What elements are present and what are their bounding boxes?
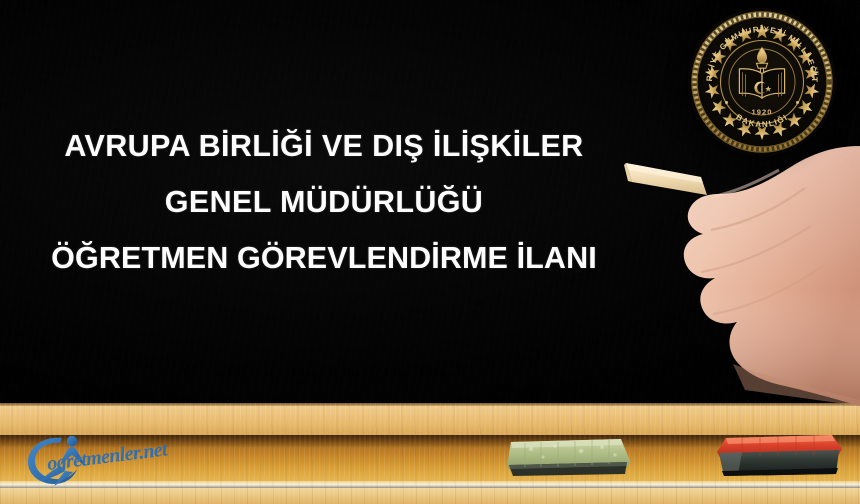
ledge-top-edge (0, 403, 860, 406)
ledge-bottom-face (0, 488, 860, 504)
headline-line-2: GENEL MÜDÜRLÜĞÜ (0, 174, 648, 230)
chalk-eraser-red (712, 430, 846, 480)
meb-seal-logo: TÜRKİYE CUMHURİYETİ MİLLİ EĞİTİM BAKANLI… (686, 6, 838, 158)
headline-line-3: ÖĞRETMEN GÖREVLENDİRME İLANI (0, 230, 648, 286)
seal-year: 1920 (752, 107, 773, 116)
headline-line-1: AVRUPA BİRLİĞİ VE DIŞ İLİŞKİLER (0, 118, 648, 174)
site-watermark[interactable]: ogretmenler.net (18, 428, 178, 490)
chalk-eraser-green (503, 433, 634, 480)
watermark-text: ogretmenler.net (46, 438, 170, 475)
announcement-poster: AVRUPA BİRLİĞİ VE DIŞ İLİŞKİLER GENEL MÜ… (0, 0, 860, 504)
page-title: AVRUPA BİRLİĞİ VE DIŞ İLİŞKİLER GENEL MÜ… (0, 118, 648, 286)
